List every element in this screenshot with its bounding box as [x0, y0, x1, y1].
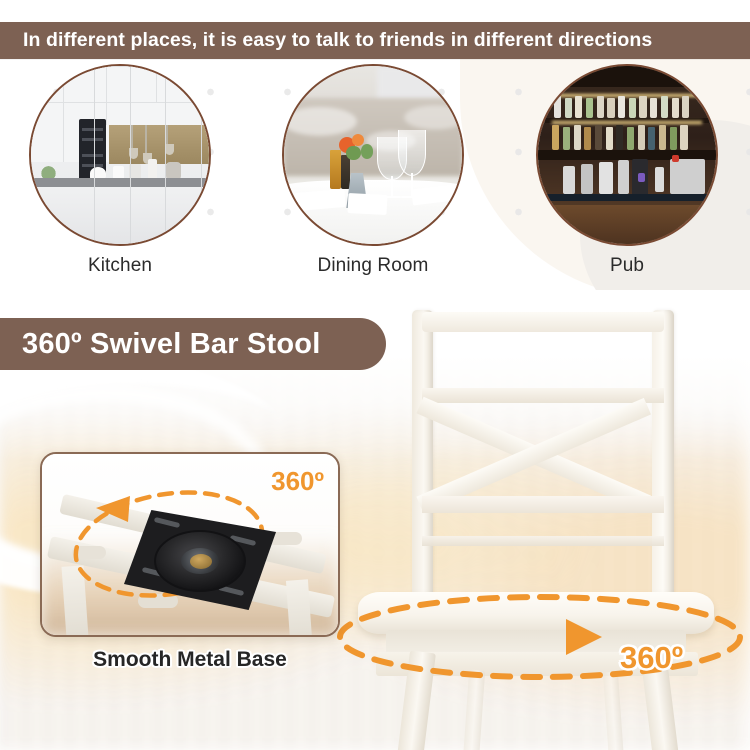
chair-back-post-right [652, 310, 674, 610]
product-title-banner: 360º Swivel Bar Stool [0, 318, 386, 370]
product-title-text: 360º Swivel Bar Stool [0, 328, 320, 361]
chair-back-post-left [412, 310, 433, 610]
chair-lower-rail [422, 536, 664, 546]
scene-circle-row: Kitchen [0, 64, 750, 284]
scene-label-dining-room: Dining Room [270, 255, 476, 277]
swivel-plate [124, 510, 276, 610]
product-infographic: In different places, it is easy to talk … [0, 0, 750, 750]
inset-frame-leg-right [286, 579, 312, 637]
inset-rotation-label: 360º [271, 466, 324, 497]
product-rotation-label: 360º [620, 640, 683, 676]
swivel-rotation-indicator [330, 588, 750, 686]
scene-image-kitchen [29, 64, 211, 246]
header-banner-text: In different places, it is easy to talk … [0, 29, 652, 52]
metal-base-inset: 360º [40, 452, 340, 637]
header-banner: In different places, it is easy to talk … [0, 22, 750, 59]
scene-image-pub [536, 64, 718, 246]
scene-item-kitchen: Kitchen [17, 64, 223, 277]
scene-item-pub: Pub [524, 64, 730, 277]
scene-label-kitchen: Kitchen [17, 255, 223, 277]
chair-mid-rail [422, 388, 664, 403]
chair-top-rail [422, 312, 664, 332]
scene-image-dining-room [282, 64, 464, 246]
scene-item-dining-room: Dining Room [270, 64, 476, 277]
metal-base-caption: Smooth Metal Base [40, 648, 340, 672]
chair-bottom-rail [422, 496, 664, 513]
scene-label-pub: Pub [524, 255, 730, 277]
